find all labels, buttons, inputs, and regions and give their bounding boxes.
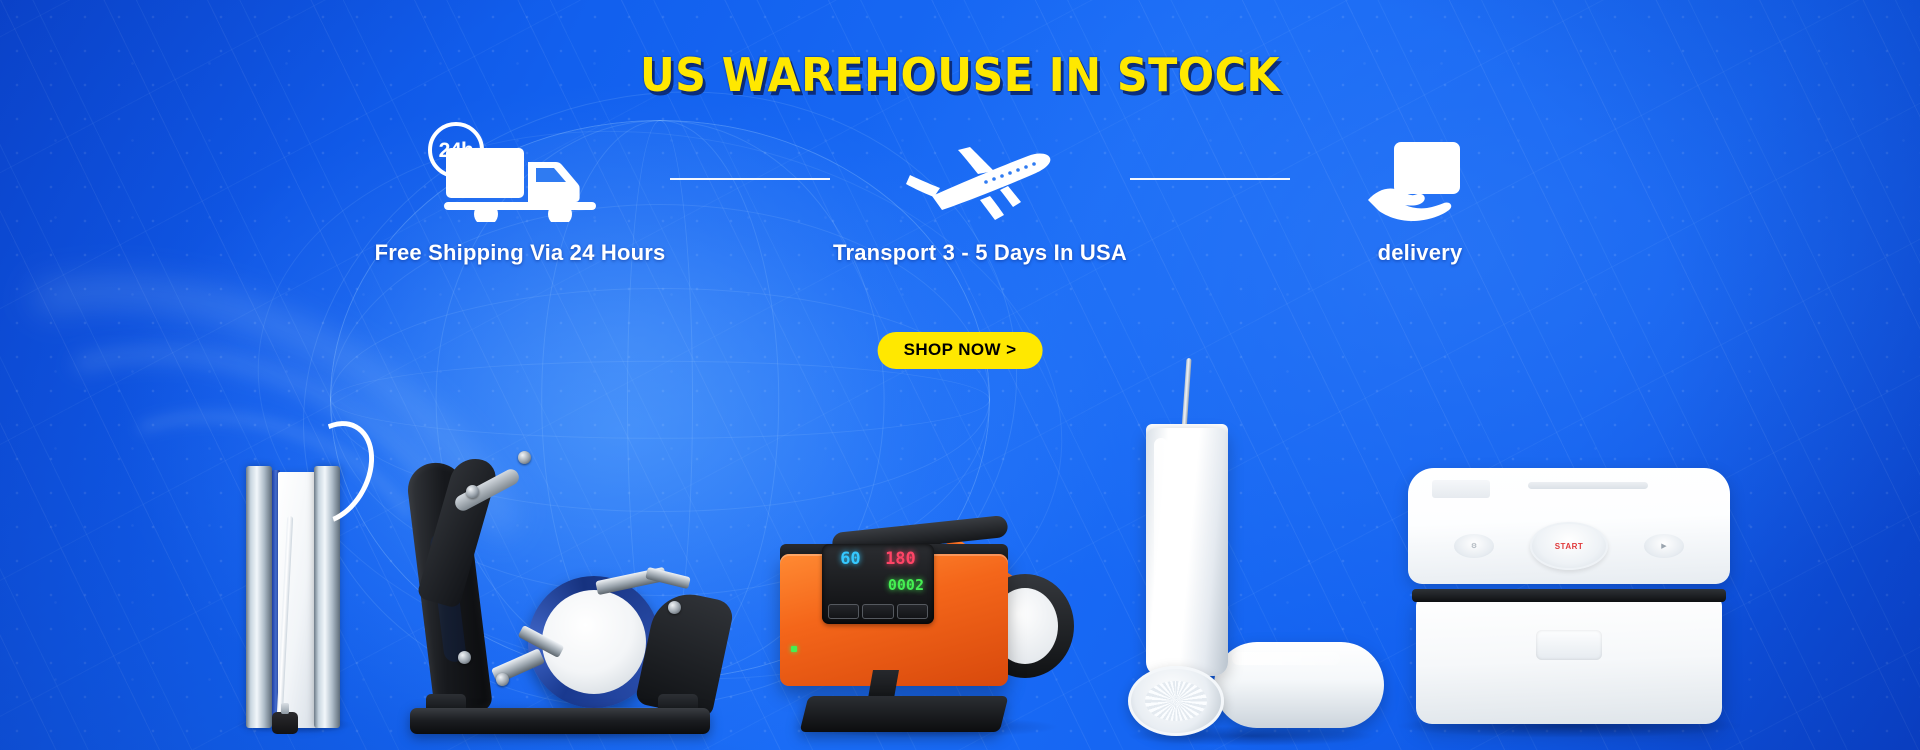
press-status-led — [791, 646, 797, 652]
feature-delivery: delivery — [1290, 136, 1550, 266]
truck-icon-slot: 24h — [420, 136, 620, 222]
product-white-appliance: ⚙ START ▶ — [1400, 424, 1740, 724]
led-current-temp: 60 — [840, 551, 860, 568]
appliance-door-handle[interactable] — [1536, 630, 1602, 660]
product-orange-mug-press: 60 180 0002 — [770, 442, 1100, 732]
feature-caption: delivery — [1378, 240, 1463, 266]
feature-transport: Transport 3 - 5 Days In USA — [830, 136, 1130, 266]
appliance-start-button[interactable]: START — [1530, 522, 1608, 570]
appliance-warning-label — [1432, 480, 1490, 498]
led-target-temp: 180 — [885, 551, 916, 568]
feature-row: 24h Free Shipping Via 24 Hours — [0, 136, 1920, 266]
appliance-accent-band — [1412, 589, 1726, 602]
press-button-menu[interactable] — [828, 604, 859, 619]
appliance-settings-button[interactable]: ⚙ — [1454, 534, 1494, 558]
airplane-icon-slot — [904, 136, 1056, 222]
feature-connector-2 — [1130, 136, 1290, 222]
airplane-icon — [904, 144, 1056, 222]
press-led-display: 60 180 0002 — [822, 544, 934, 624]
product-white-tumblers — [1110, 420, 1390, 740]
product-black-mug-press — [400, 429, 730, 734]
feature-caption: Free Shipping Via 24 Hours — [375, 240, 666, 266]
hand-package-icon-slot — [1366, 136, 1474, 222]
banner-headline: US WAREHOUSE IN STOCK — [67, 52, 1853, 98]
press-button-up[interactable] — [862, 604, 893, 619]
hand-package-icon — [1366, 140, 1474, 222]
24h-badge-label: 24h — [439, 140, 474, 161]
product-showcase: 60 180 0002 — [0, 320, 1920, 750]
feature-caption: Transport 3 - 5 Days In USA — [833, 240, 1127, 266]
appliance-vent — [1528, 482, 1648, 489]
24h-badge: 24h — [428, 122, 484, 178]
appliance-setup-button[interactable]: ▶ — [1644, 534, 1684, 558]
led-timer: 0002 — [888, 576, 924, 594]
appliance-start-label: START — [1555, 542, 1584, 551]
promo-banner: US WAREHOUSE IN STOCK 24h — [0, 0, 1920, 750]
product-heating-element — [228, 438, 358, 728]
press-button-down[interactable] — [897, 604, 928, 619]
feature-free-shipping: 24h Free Shipping Via 24 Hours — [370, 136, 670, 266]
feature-connector-1 — [670, 136, 830, 222]
